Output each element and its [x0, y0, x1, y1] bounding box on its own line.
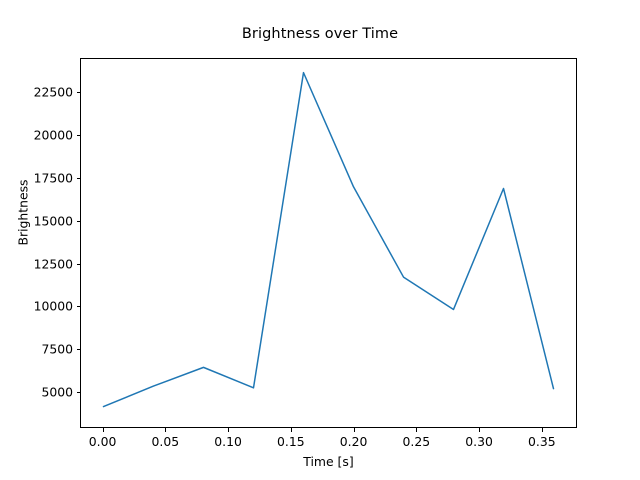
data-series-svg: [81, 59, 576, 427]
x-tick-label: 0.30: [465, 434, 493, 449]
x-tick-mark: [479, 428, 480, 432]
y-tick-label: 7500: [41, 342, 73, 357]
x-tick-label: 0.05: [152, 434, 180, 449]
chart-title: Brightness over Time: [0, 26, 640, 42]
y-tick-label: 12500: [34, 256, 73, 271]
x-tick-mark: [103, 428, 104, 432]
x-tick-mark: [542, 428, 543, 432]
x-axis-label: Time [s]: [80, 454, 577, 469]
x-tick-label: 0.15: [277, 434, 305, 449]
plot-area: [80, 58, 577, 428]
x-tick-mark: [228, 428, 229, 432]
x-tick-label: 0.00: [89, 434, 117, 449]
y-tick-label: 17500: [34, 170, 73, 185]
y-tick-label: 20000: [34, 128, 73, 143]
x-tick-mark: [165, 428, 166, 432]
x-tick-label: 0.10: [214, 434, 242, 449]
matplotlib-figure: Brightness over Time 5000750010000125001…: [0, 0, 640, 480]
x-tick-label: 0.25: [403, 434, 431, 449]
y-tick-label: 5000: [41, 385, 73, 400]
y-tick-label: 10000: [34, 299, 73, 314]
x-tick-mark: [416, 428, 417, 432]
x-tick-mark: [354, 428, 355, 432]
brightness-series-line: [103, 73, 553, 407]
y-tick-label: 22500: [34, 85, 73, 100]
y-axis-label: Brightness: [16, 113, 31, 313]
y-axis-tick-labels: 50007500100001250015000175002000022500: [0, 0, 73, 480]
x-tick-label: 0.35: [528, 434, 556, 449]
x-tick-label: 0.20: [340, 434, 368, 449]
x-tick-mark: [291, 428, 292, 432]
y-tick-label: 15000: [34, 213, 73, 228]
